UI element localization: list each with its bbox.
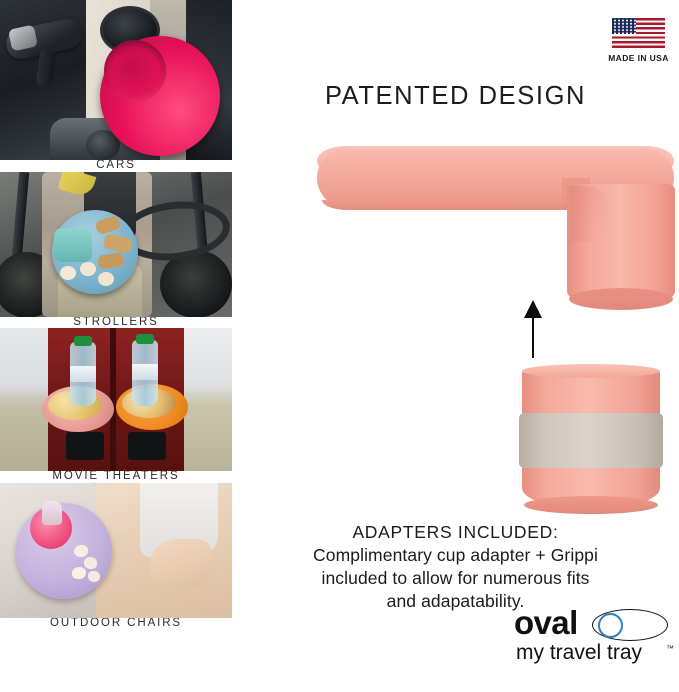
oval-blue-circle-icon — [598, 613, 623, 638]
snack-piece-3 — [98, 272, 114, 286]
outdoor-chair-photo — [0, 483, 232, 618]
logo-tagline: my travel tray — [516, 642, 642, 664]
water-bottle-label-left — [70, 366, 96, 382]
use-case-cars: CARS — [0, 0, 232, 172]
cup-adapter-with-grippi-illustration — [519, 368, 663, 514]
grippi-band — [519, 413, 663, 468]
adapters-heading: ADAPTERS INCLUDED: — [232, 521, 679, 544]
car-interior-photo — [0, 0, 232, 160]
use-case-strollers: STROLLERS — [0, 172, 232, 329]
popcorn-2 — [84, 557, 97, 569]
product-infographic: CARS — [0, 0, 679, 692]
pink-tray-cup-well — [104, 40, 166, 102]
popcorn-4 — [88, 571, 100, 582]
trademark-symbol: ™ — [666, 644, 674, 653]
use-case-caption-strollers: STROLLERS — [0, 317, 232, 329]
seat-cup-holder-right — [128, 432, 166, 460]
movie-theater-photo — [0, 328, 232, 471]
product-detail-panel: MADE IN USA PATENTED DESIGN — [232, 0, 679, 692]
usa-flag-icon — [612, 18, 665, 48]
use-case-caption-movie-theaters: MOVIE THEATERS — [0, 471, 232, 483]
use-case-column: CARS — [0, 0, 232, 692]
bottle-cap-left — [74, 336, 92, 346]
popcorn-1 — [74, 545, 88, 557]
child-right — [184, 328, 232, 471]
use-case-caption-cars: CARS — [0, 160, 232, 172]
made-in-usa-badge: MADE IN USA — [607, 18, 670, 63]
water-bottle-label-right — [132, 364, 158, 380]
arrow-shaft — [532, 314, 534, 358]
brand-logo: oval my travel tray ™ — [514, 606, 674, 670]
flag-stars — [612, 18, 636, 34]
use-case-caption-outdoor-chairs: OUTDOOR CHAIRS — [0, 618, 232, 630]
teal-snack-cup — [54, 228, 92, 262]
bottle-cap-right — [136, 334, 154, 344]
made-in-usa-label: MADE IN USA — [607, 53, 670, 63]
adapter-base — [524, 496, 658, 514]
adapters-line-2: included to allow for numerous fits — [232, 567, 679, 590]
child-left — [0, 328, 48, 471]
adapter-rim — [522, 364, 660, 378]
use-case-outdoor-chairs: OUTDOOR CHAIRS — [0, 483, 232, 630]
adapters-line-1: Complimentary cup adapter + Grippi — [232, 544, 679, 567]
snack-piece-2 — [80, 262, 96, 276]
use-case-movie-theaters: MOVIE THEATERS — [0, 328, 232, 483]
logo-wordmark: oval — [514, 606, 578, 640]
cup-holder-base — [569, 288, 673, 310]
adapters-description: ADAPTERS INCLUDED: Complimentary cup ada… — [232, 521, 679, 613]
child-hand — [150, 539, 212, 589]
page-title: PATENTED DESIGN — [232, 82, 679, 111]
seat-cup-holder-left — [66, 432, 104, 460]
stroller-photo — [0, 172, 232, 317]
pink-travel-tray-illustration — [232, 128, 679, 328]
sippy-cup-lid — [42, 501, 62, 525]
popcorn-3 — [72, 567, 86, 579]
upward-assembly-arrow — [522, 300, 544, 358]
snack-piece-1 — [60, 266, 76, 280]
